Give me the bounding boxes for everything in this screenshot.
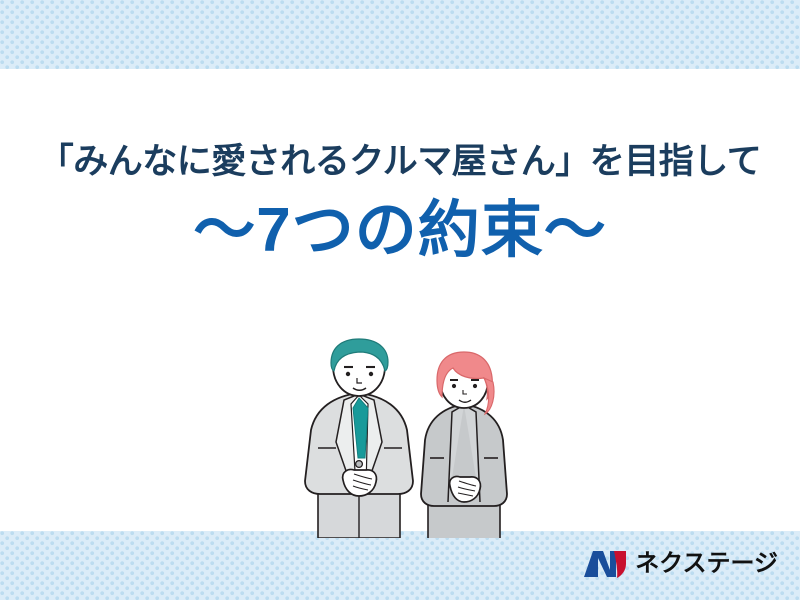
headline-block: 「みんなに愛されるクルマ屋さん」を目指して 〜7つの約束〜 — [0, 140, 800, 268]
female-staff-figure — [421, 352, 507, 538]
staff-illustration — [296, 338, 526, 538]
headline-line-1: 「みんなに愛されるクルマ屋さん」を目指して — [0, 140, 800, 185]
banner-root: 「みんなに愛されるクルマ屋さん」を目指して 〜7つの約束〜 — [0, 0, 800, 600]
male-staff-figure — [305, 339, 413, 538]
logo-wordmark: ネクステージ — [635, 552, 778, 576]
nexstage-n-mark-icon — [583, 549, 627, 579]
top-dot-band — [0, 0, 800, 69]
nexstage-logo: ネクステージ — [583, 547, 778, 581]
headline-line-2: 〜7つの約束〜 — [0, 193, 800, 269]
